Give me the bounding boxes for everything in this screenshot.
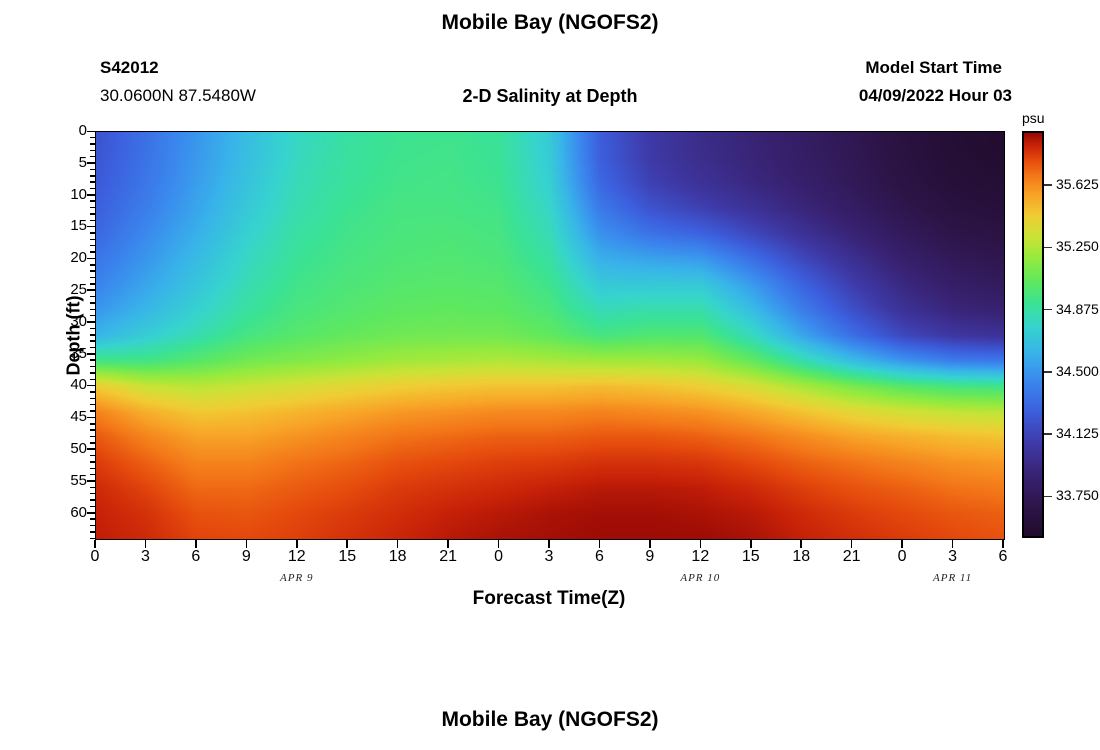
y-axis-tick-mark <box>87 512 95 514</box>
y-axis-minor-tick <box>90 156 95 158</box>
x-axis-tick-mark <box>599 540 601 548</box>
x-axis-tick-label: 3 <box>125 548 165 566</box>
x-axis-tick-label: 3 <box>933 548 973 566</box>
x-axis-tick-mark <box>750 540 752 548</box>
y-axis-minor-tick <box>90 538 95 540</box>
colorbar-tick-label: 35.250 <box>1056 238 1099 254</box>
y-axis-minor-tick <box>90 347 95 349</box>
page-title: Mobile Bay (NGOFS2) <box>0 11 1100 35</box>
y-axis-minor-tick <box>90 188 95 190</box>
x-axis-tick-label: 12 <box>277 548 317 566</box>
y-axis-tick-mark <box>87 353 95 355</box>
x-axis-tick-label: 6 <box>579 548 619 566</box>
y-axis-minor-tick <box>90 499 95 501</box>
x-axis-day-label: APR 9 <box>252 572 342 584</box>
y-axis-tick-label: 0 <box>41 122 87 139</box>
y-axis-minor-tick <box>90 251 95 253</box>
y-axis-minor-tick <box>90 398 95 400</box>
y-axis-minor-tick <box>90 436 95 438</box>
colorbar-tick-label: 34.875 <box>1056 301 1099 317</box>
y-axis-tick-label: 60 <box>41 504 87 521</box>
x-axis-tick-mark <box>700 540 702 548</box>
colorbar-tick-mark <box>1044 247 1052 249</box>
y-axis-minor-tick <box>90 137 95 139</box>
y-axis-tick-mark <box>87 226 95 228</box>
y-axis-minor-tick <box>90 232 95 234</box>
x-axis-tick-mark <box>1002 540 1004 548</box>
colorbar-tick-mark <box>1044 184 1052 186</box>
y-axis-minor-tick <box>90 200 95 202</box>
colorbar-tick-mark <box>1044 371 1052 373</box>
x-axis-tick-mark <box>548 540 550 548</box>
y-axis-tick-label: 50 <box>41 440 87 457</box>
x-axis-tick-label: 0 <box>882 548 922 566</box>
y-axis-tick-mark <box>87 417 95 419</box>
colorbar-canvas <box>1022 131 1044 538</box>
x-axis-tick-mark <box>246 540 248 548</box>
model-start-time-value: 04/09/2022 Hour 03 <box>0 86 1012 106</box>
colorbar-tick-mark <box>1044 433 1052 435</box>
x-axis-tick-mark <box>346 540 348 548</box>
colorbar-tick-label: 33.750 <box>1056 487 1099 503</box>
x-axis-tick-label: 21 <box>428 548 468 566</box>
x-axis-tick-label: 0 <box>479 548 519 566</box>
y-axis-minor-tick <box>90 506 95 508</box>
y-axis-minor-tick <box>90 372 95 374</box>
x-axis-tick-label: 15 <box>731 548 771 566</box>
x-axis-tick-label: 21 <box>832 548 872 566</box>
x-axis-tick-mark <box>397 540 399 548</box>
x-axis-tick-label: 15 <box>327 548 367 566</box>
y-axis-minor-tick <box>90 169 95 171</box>
y-axis-minor-tick <box>90 309 95 311</box>
y-axis-minor-tick <box>90 468 95 470</box>
y-axis-minor-tick <box>90 423 95 425</box>
y-axis-tick-label: 45 <box>41 408 87 425</box>
x-axis-tick-label: 9 <box>630 548 670 566</box>
y-axis-tick-mark <box>87 448 95 450</box>
y-axis-tick-mark <box>87 258 95 260</box>
y-axis-tick-mark <box>87 289 95 291</box>
x-axis-day-label: APR 10 <box>655 572 745 584</box>
colorbar-tick-label: 35.625 <box>1056 176 1099 192</box>
y-axis-minor-tick <box>90 442 95 444</box>
y-axis-minor-tick <box>90 334 95 336</box>
y-axis-tick-label: 5 <box>41 154 87 171</box>
y-axis-tick-label: 25 <box>41 281 87 298</box>
x-axis-tick-mark <box>851 540 853 548</box>
y-axis-minor-tick <box>90 366 95 368</box>
y-axis-tick-mark <box>87 321 95 323</box>
y-axis-minor-tick <box>90 245 95 247</box>
y-axis-minor-tick <box>90 213 95 215</box>
y-axis-tick-label: 35 <box>41 345 87 362</box>
x-axis-tick-label: 6 <box>176 548 216 566</box>
y-axis-minor-tick <box>90 315 95 317</box>
y-axis-tick-label: 10 <box>41 186 87 203</box>
salinity-heatmap-plot <box>95 131 1005 540</box>
y-axis-minor-tick <box>90 296 95 298</box>
y-axis-minor-tick <box>90 302 95 304</box>
y-axis-minor-tick <box>90 474 95 476</box>
y-axis-minor-tick <box>90 518 95 520</box>
x-axis-tick-label: 12 <box>680 548 720 566</box>
y-axis-tick-label: 55 <box>41 472 87 489</box>
x-axis-tick-mark <box>145 540 147 548</box>
x-axis-tick-label: 6 <box>983 548 1023 566</box>
y-axis-minor-tick <box>90 391 95 393</box>
footer-title: Mobile Bay (NGOFS2) <box>0 708 1100 732</box>
y-axis-minor-tick <box>90 143 95 145</box>
y-axis-minor-tick <box>90 181 95 183</box>
y-axis-minor-tick <box>90 487 95 489</box>
y-axis-minor-tick <box>90 455 95 457</box>
x-axis-tick-mark <box>498 540 500 548</box>
colorbar <box>1022 131 1044 538</box>
x-axis-tick-label: 0 <box>75 548 115 566</box>
x-axis-day-label: APR 11 <box>908 572 998 584</box>
x-axis-tick-mark <box>94 540 96 548</box>
y-axis-minor-tick <box>90 525 95 527</box>
x-axis-tick-label: 18 <box>378 548 418 566</box>
y-axis-tick-label: 30 <box>41 313 87 330</box>
y-axis-tick-mark <box>87 162 95 164</box>
y-axis-minor-tick <box>90 264 95 266</box>
y-axis-tick-label: 20 <box>41 249 87 266</box>
y-axis-minor-tick <box>90 429 95 431</box>
x-axis-tick-mark <box>649 540 651 548</box>
y-axis-minor-tick <box>90 410 95 412</box>
y-axis-minor-tick <box>90 493 95 495</box>
y-axis-tick-label: 40 <box>41 376 87 393</box>
colorbar-tick-label: 34.500 <box>1056 363 1099 379</box>
colorbar-tick-mark <box>1044 309 1052 311</box>
x-axis-tick-label: 3 <box>529 548 569 566</box>
y-axis-minor-tick <box>90 531 95 533</box>
y-axis-tick-mark <box>87 194 95 196</box>
y-axis-minor-tick <box>90 277 95 279</box>
y-axis-minor-tick <box>90 207 95 209</box>
x-axis-tick-mark <box>447 540 449 548</box>
y-axis-minor-tick <box>90 175 95 177</box>
heatmap-canvas <box>96 132 1004 539</box>
y-axis-minor-tick <box>90 404 95 406</box>
x-axis-title: Forecast Time(Z) <box>95 588 1003 610</box>
y-axis-minor-tick <box>90 461 95 463</box>
y-axis-minor-tick <box>90 270 95 272</box>
model-start-time-label: Model Start Time <box>0 58 1002 78</box>
y-axis-minor-tick <box>90 283 95 285</box>
x-axis-tick-mark <box>901 540 903 548</box>
y-axis-minor-tick <box>90 220 95 222</box>
y-axis-minor-tick <box>90 359 95 361</box>
x-axis-tick-mark <box>195 540 197 548</box>
y-axis-tick-mark <box>87 131 95 133</box>
y-axis-minor-tick <box>90 340 95 342</box>
colorbar-units-label: psu <box>1022 110 1062 126</box>
y-axis-minor-tick <box>90 328 95 330</box>
y-axis-minor-tick <box>90 379 95 381</box>
x-axis-tick-mark <box>296 540 298 548</box>
y-axis-tick-mark <box>87 480 95 482</box>
y-axis-minor-tick <box>90 239 95 241</box>
colorbar-tick-label: 34.125 <box>1056 425 1099 441</box>
y-axis-tick-mark <box>87 385 95 387</box>
x-axis-tick-label: 18 <box>781 548 821 566</box>
x-axis-tick-mark <box>952 540 954 548</box>
colorbar-tick-mark <box>1044 496 1052 498</box>
x-axis-tick-label: 9 <box>226 548 266 566</box>
x-axis-tick-mark <box>800 540 802 548</box>
y-axis-tick-label: 15 <box>41 217 87 234</box>
y-axis-minor-tick <box>90 150 95 152</box>
